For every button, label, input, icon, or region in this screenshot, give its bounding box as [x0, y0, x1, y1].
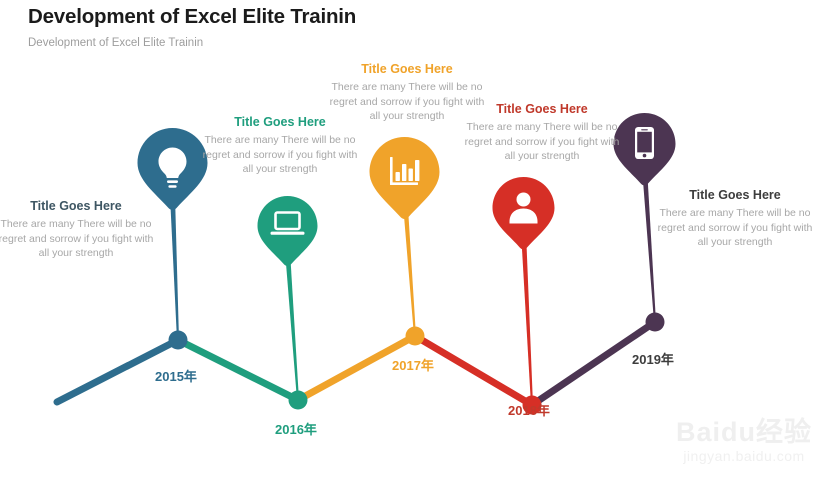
year-label-2016: 2016年	[275, 419, 317, 438]
pin-stem-1	[170, 196, 179, 340]
pin-stem-2	[285, 251, 299, 400]
node-2015[interactable]	[169, 331, 188, 350]
timeline-infographic: Title Goes Here There are many There wil…	[0, 0, 824, 477]
milestone-body-5: There are many There will be no regret a…	[655, 206, 815, 250]
map-pin-4[interactable]	[493, 177, 555, 249]
node-2019[interactable]	[646, 313, 665, 332]
node-2017[interactable]	[406, 327, 425, 346]
pin-stem-5	[642, 168, 656, 322]
map-pin-2[interactable]	[258, 196, 318, 266]
node-2016[interactable]	[289, 391, 308, 410]
map-pin-3[interactable]	[370, 137, 440, 219]
pin-stem-4	[521, 232, 533, 405]
pin-shape-2	[258, 196, 318, 266]
milestone-text-1: Title Goes Here There are many There wil…	[0, 198, 156, 261]
milestone-body-4: There are many There will be no regret a…	[462, 120, 622, 164]
map-pin-5[interactable]	[614, 113, 676, 185]
milestone-title-5: Title Goes Here	[655, 187, 815, 203]
milestone-title-1: Title Goes Here	[0, 198, 156, 214]
milestone-text-4: Title Goes Here There are many There wil…	[462, 101, 622, 164]
milestone-body-1: There are many There will be no regret a…	[0, 217, 156, 261]
year-label-2018: 2018年	[508, 400, 550, 419]
laptop-base	[271, 232, 305, 235]
milestone-title-4: Title Goes Here	[462, 101, 622, 117]
year-label-2019: 2019年	[632, 349, 674, 368]
milestone-body-2: There are many There will be no regret a…	[200, 133, 360, 177]
year-label-2015: 2015年	[155, 366, 197, 385]
timeline-line	[57, 322, 655, 405]
smartphone-icon	[635, 127, 654, 159]
milestone-title-3: Title Goes Here	[327, 61, 487, 77]
milestone-text-5: Title Goes Here There are many There wil…	[655, 187, 815, 250]
year-label-2017: 2017年	[392, 355, 434, 374]
